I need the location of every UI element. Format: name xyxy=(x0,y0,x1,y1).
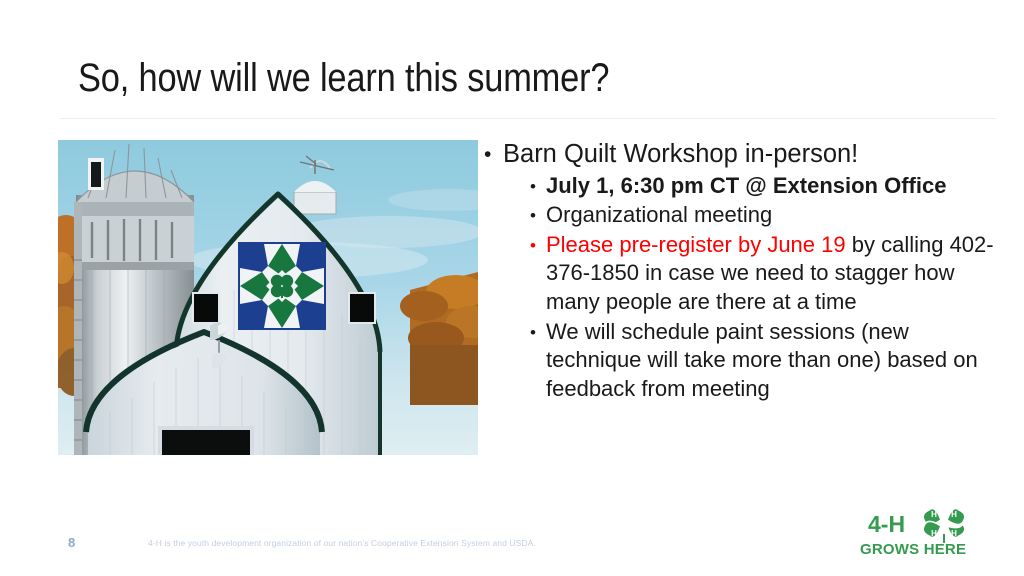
slide: So, how will we learn this summer? xyxy=(0,0,1024,576)
clover-letter-h-3: H xyxy=(931,529,937,538)
bullet-list: • Barn Quilt Workshop in-person! • July … xyxy=(478,138,998,404)
4h-logo-graphic: H H H H 4-H GROWS HERE xyxy=(856,503,986,561)
list-item: • Barn Quilt Workshop in-person! xyxy=(478,138,998,171)
footer-disclaimer: 4-H is the youth development organizatio… xyxy=(148,538,536,548)
clover-icon: H H H H xyxy=(923,508,965,543)
logo-line-2: GROWS HERE xyxy=(860,541,966,558)
barn-photo-illustration xyxy=(58,140,478,455)
list-item: • Organizational meeting xyxy=(478,201,998,230)
clover-letter-h-2: H xyxy=(951,510,957,519)
bullet-marker-icon: • xyxy=(530,231,546,254)
bullet-text: Barn Quilt Workshop in-person! xyxy=(503,138,998,171)
clover-letter-h-1: H xyxy=(931,510,937,519)
list-item: • July 1, 6:30 pm CT @ Extension Office xyxy=(478,172,998,201)
barn-window-right xyxy=(348,292,376,324)
clover-letter-h-4: H xyxy=(951,529,957,538)
slide-title-text: So, how will we learn this summer? xyxy=(78,56,852,101)
barn-doorway xyxy=(158,426,254,455)
list-item: • Please pre-register by June 19 by call… xyxy=(478,231,998,317)
logo-line-1: 4-H xyxy=(868,511,905,537)
page-title: So, how will we learn this summer? xyxy=(78,56,978,101)
bullet-marker-icon: • xyxy=(530,172,546,195)
bullet-marker-icon: • xyxy=(530,201,546,224)
bullet-marker-icon: • xyxy=(530,318,546,341)
bullet-text: Organizational meeting xyxy=(546,201,998,230)
bullet-text-emphasis: Please pre-register by June 19 xyxy=(546,232,846,257)
barn-quilt-photo xyxy=(58,140,478,455)
page-number: 8 xyxy=(68,535,75,550)
barn-quilt-square xyxy=(238,242,326,330)
list-item: • We will schedule paint sessions (new t… xyxy=(478,318,998,404)
bullet-text: We will schedule paint sessions (new tec… xyxy=(546,318,998,404)
title-divider xyxy=(60,118,996,119)
bullet-text: Please pre-register by June 19 by callin… xyxy=(546,231,998,317)
4h-grows-here-logo: H H H H 4-H GROWS HERE xyxy=(856,503,986,561)
bullet-marker-icon: • xyxy=(484,138,503,165)
bullet-text: July 1, 6:30 pm CT @ Extension Office xyxy=(546,172,998,201)
barn-window-left xyxy=(192,292,220,324)
